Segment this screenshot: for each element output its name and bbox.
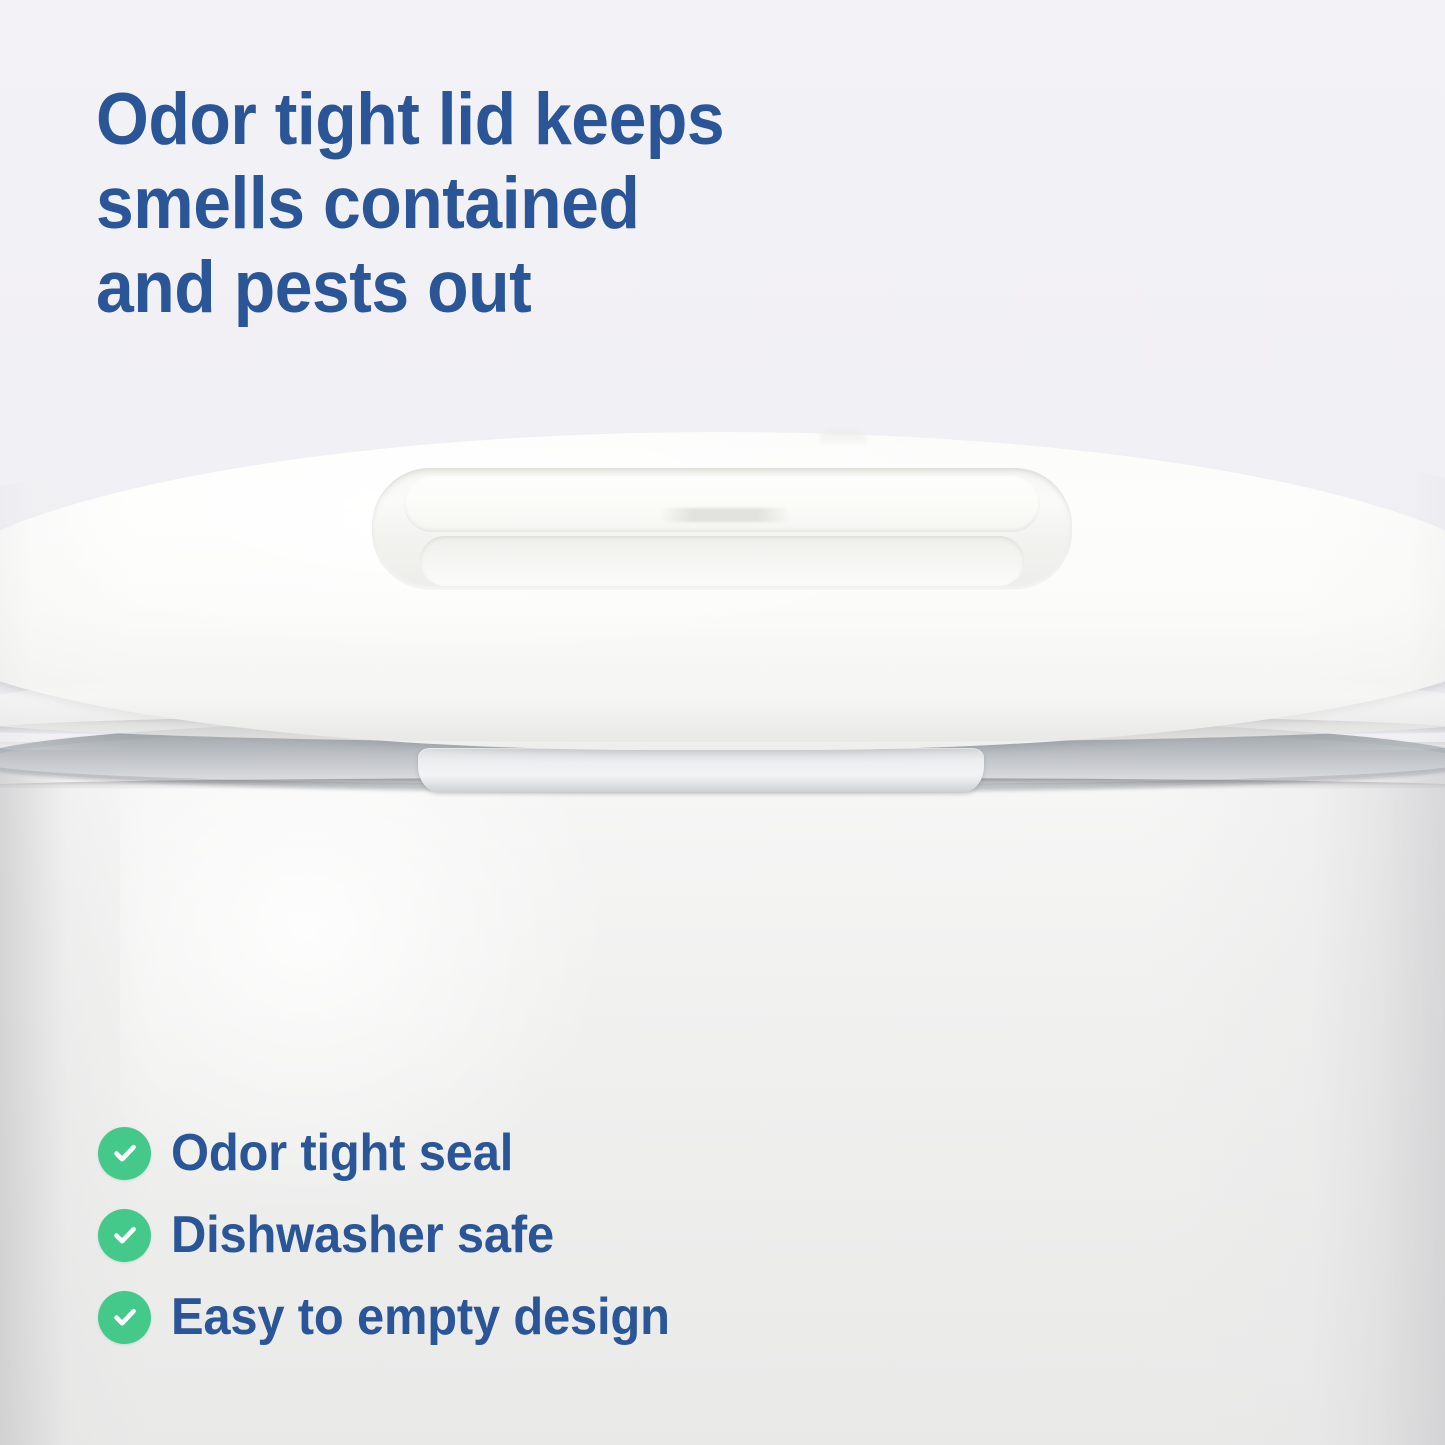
check-circle-icon xyxy=(98,1291,151,1344)
recessed-lid-handle xyxy=(372,468,1072,590)
handle-lower-bar xyxy=(420,536,1024,586)
odor-tight-lid xyxy=(0,432,1445,750)
list-item: Dishwasher safe xyxy=(98,1194,998,1276)
rim-bottom-shadow-line xyxy=(0,778,1445,790)
feature-list: Odor tight seal Dishwasher safe Easy to … xyxy=(98,1112,998,1358)
lid-rim-shadow-line xyxy=(0,714,1445,736)
feature-label: Dishwasher safe xyxy=(171,1207,554,1263)
handle-embossed-mark xyxy=(660,508,790,522)
feature-label: Easy to empty design xyxy=(171,1289,670,1345)
bin-body-right-shading xyxy=(1175,755,1445,1445)
list-item: Easy to empty design xyxy=(98,1276,998,1358)
lid-top-highlight xyxy=(150,450,930,650)
feature-label: Odor tight seal xyxy=(171,1125,513,1181)
list-item: Odor tight seal xyxy=(98,1112,998,1194)
page-title: Odor tight lid keeps smells contained an… xyxy=(96,78,840,330)
check-circle-icon xyxy=(98,1209,151,1262)
gray-seal-rim-highlight xyxy=(0,726,1445,784)
lid-left-edge-shading xyxy=(0,480,135,750)
check-circle-icon xyxy=(98,1127,151,1180)
gray-seal-rim xyxy=(0,716,1445,790)
front-lift-tab xyxy=(418,748,984,792)
lid-front-bevel xyxy=(0,662,1445,742)
lid-right-edge-shading xyxy=(1300,470,1445,750)
product-feature-image: Odor tight lid keeps smells contained an… xyxy=(0,0,1445,1445)
handle-upper-bar xyxy=(404,476,1040,532)
lid-rear-nub xyxy=(820,430,866,446)
